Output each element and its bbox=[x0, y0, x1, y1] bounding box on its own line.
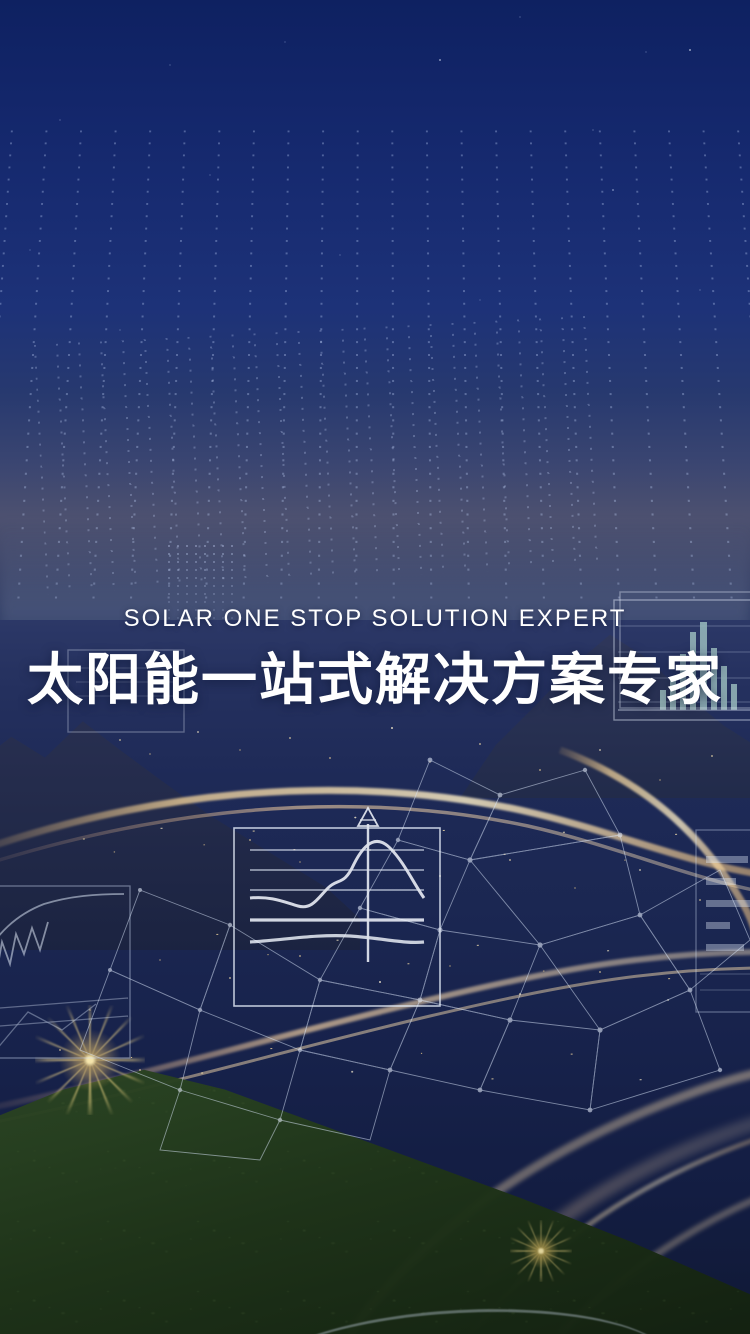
light-flare-main bbox=[35, 1005, 145, 1115]
solar-hero-banner: SOLAR ONE STOP SOLUTION EXPERT 太阳能一站式解决方… bbox=[0, 0, 750, 1334]
aerial-night-city bbox=[0, 620, 750, 1334]
hero-headline: 太阳能一站式解决方案专家 bbox=[0, 648, 750, 712]
hero-eyebrow: SOLAR ONE STOP SOLUTION EXPERT bbox=[0, 604, 750, 634]
light-flare-secondary bbox=[510, 1220, 572, 1282]
hero-copy: SOLAR ONE STOP SOLUTION EXPERT 太阳能一站式解决方… bbox=[0, 604, 750, 712]
